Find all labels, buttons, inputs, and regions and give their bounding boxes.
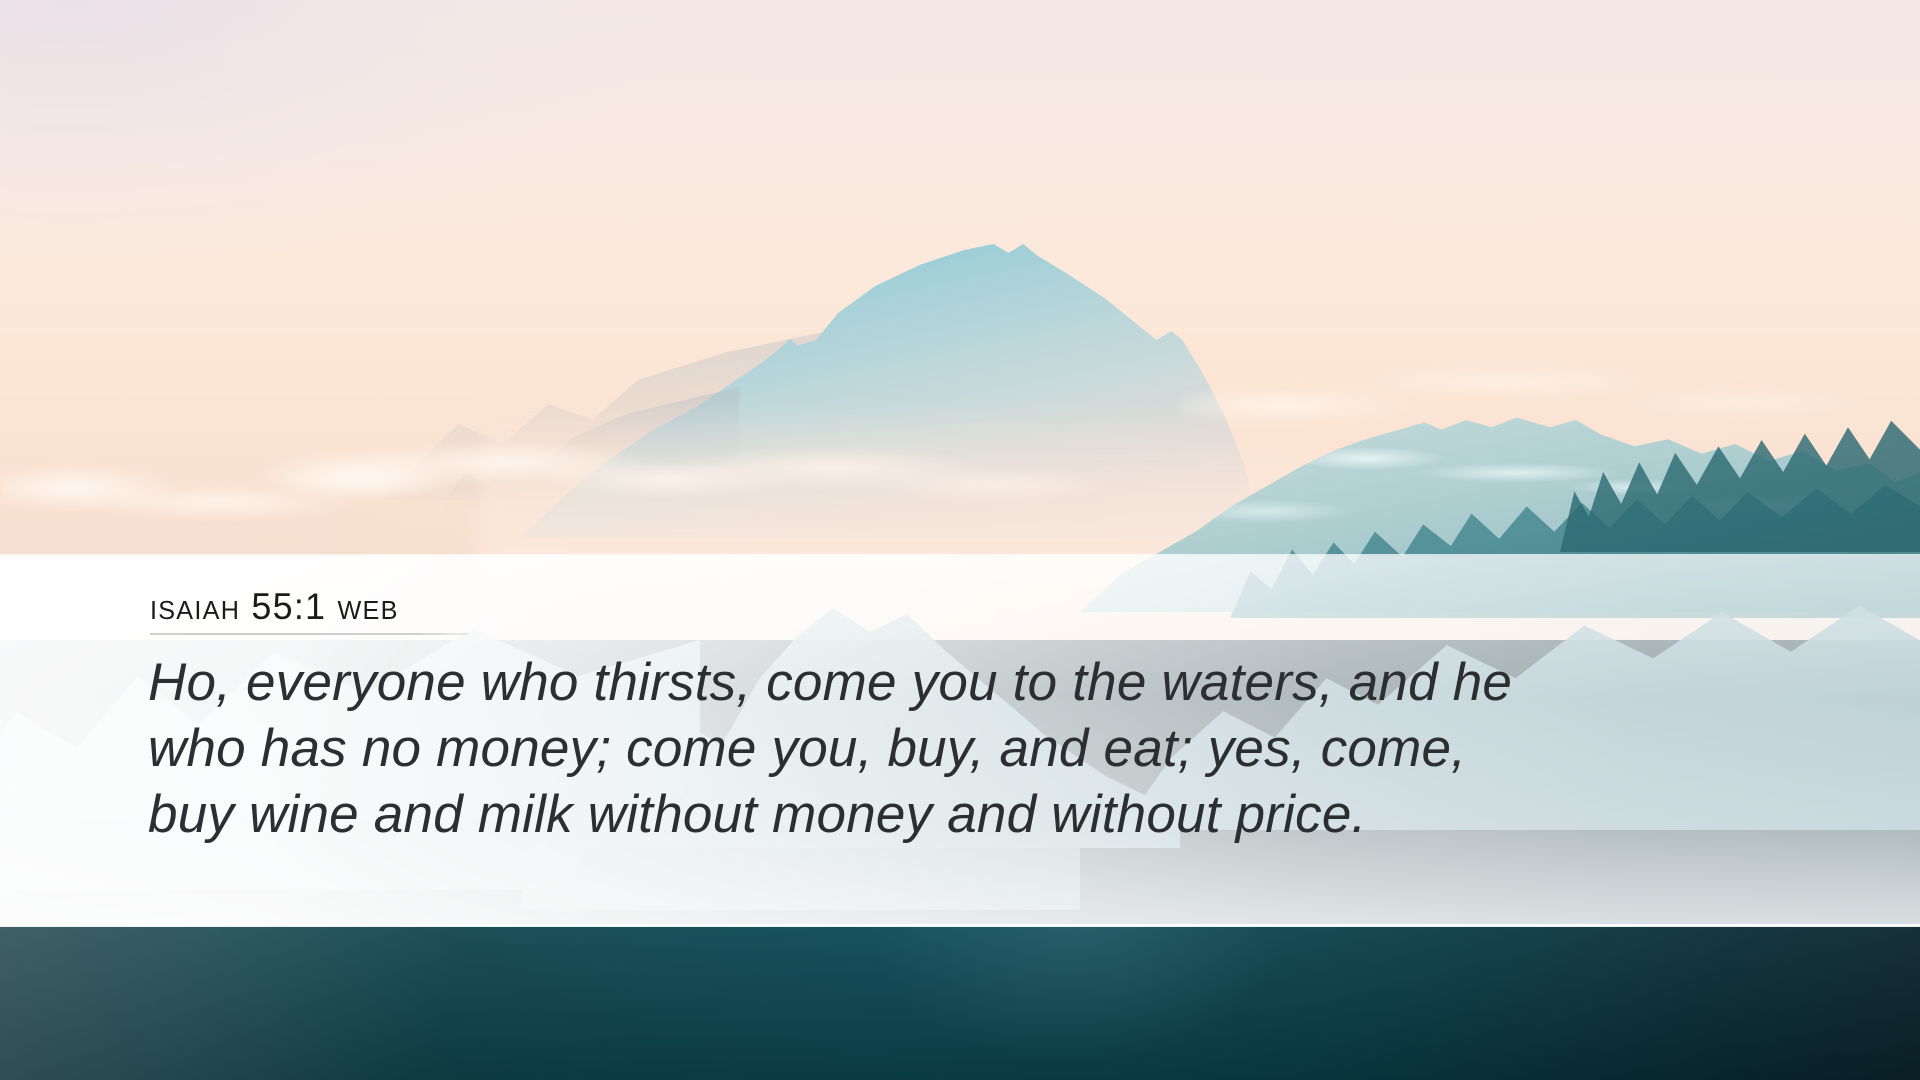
cloud-bank-center (260, 398, 1280, 538)
verse-line-2: who has no money; come you, buy, and eat… (148, 716, 1608, 782)
verse-text: Ho, everyone who thirsts, come you to th… (148, 650, 1608, 847)
verse-line-1: Ho, everyone who thirsts, come you to th… (148, 650, 1608, 716)
wallpaper-stage: Isaiah 55:1 WEB Ho, everyone who thirsts… (0, 0, 1920, 1080)
foreground-light-sheen (0, 926, 1920, 1080)
verse-reference-underline (150, 633, 468, 635)
verse-reference: Isaiah 55:1 WEB (148, 588, 403, 626)
verse-card: Isaiah 55:1 WEB Ho, everyone who thirsts… (0, 556, 1920, 926)
verse-line-3: buy wine and milk without money and with… (148, 782, 1608, 848)
verse-reference-block: Isaiah 55:1 WEB (148, 588, 410, 626)
